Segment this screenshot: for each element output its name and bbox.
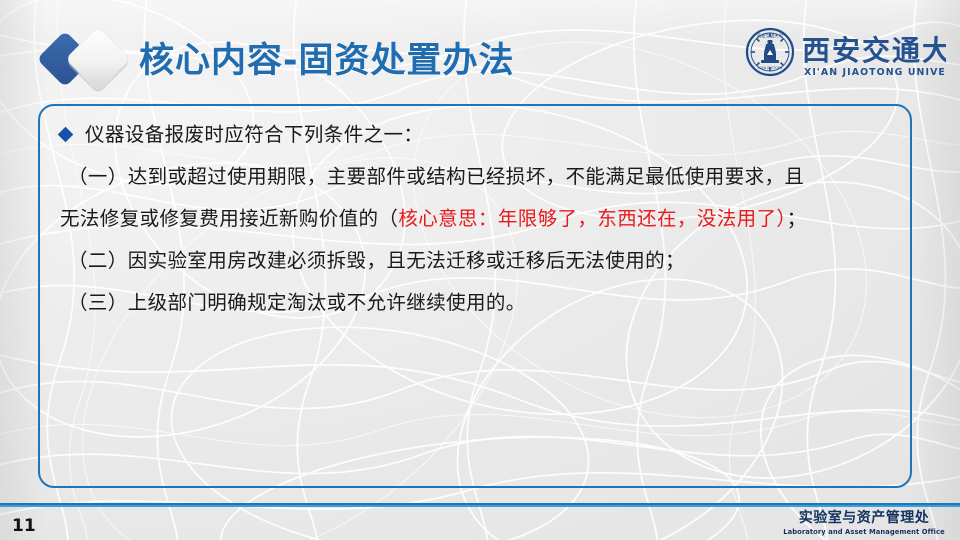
content-highlight-note: 核心意思：年限够了，东西还在，没法用了 [398,207,776,230]
content-line-item2: （二）因实验室用房改建必须拆毁，且无法迁移或迁移后无法使用的； [60,240,900,282]
content-highlight-close-paren: ） [776,207,786,230]
xjtu-university-logo: 西安交通大学 XI'AN JIAOTONG 西安交通大学 XI'AN JIAOT… [740,24,946,88]
footer-divider [0,503,960,507]
department-name-en: Laboratory and Asset Management Office [780,527,949,537]
page-number: 11 [12,516,36,536]
svg-text:西安交通大学: 西安交通大学 [802,34,946,67]
content-line-item1b: 无法修复或修复费用接近新购价值的（核心意思：年限够了，东西还在，没法用了）； [60,198,900,240]
content-line-item3-text: （三）上级部门明确规定淘汰或不允许继续使用的。 [68,291,526,314]
svg-text:XI'AN JIAOTONG: XI'AN JIAOTONG [758,66,783,70]
page-title: 核心内容-固资处置办法 [139,32,515,83]
diamond-bullet-icon [58,127,74,143]
dual-diamond-logo-icon [38,26,134,92]
xjtu-wordmark: 西安交通大学 XI'AN JIAOTONG UNIVERSITY [802,34,946,78]
content-line-item1b-text-post: ； [787,207,807,230]
xjtu-emblem-icon: 西安交通大学 XI'AN JIAOTONG [747,29,793,75]
content-text-block: 仪器设备报废时应符合下列条件之一： （一）达到或超过使用期限，主要部件或结构已经… [60,114,900,324]
content-line-item1b-text-pre: 无法修复或修复费用接近新购价值的（ [60,207,398,230]
presentation-slide: 核心内容-固资处置办法 西安交通大学 XI'AN JI [0,0,960,540]
content-line-item1a-text: （一）达到或超过使用期限，主要部件或结构已经损坏，不能满足最低使用要求，且 [68,165,804,188]
content-line-item2-text: （二）因实验室用房改建必须拆毁，且无法迁移或迁移后无法使用的； [68,249,685,272]
svg-text:西安交通大学: 西安交通大学 [757,33,783,40]
content-line-intro-text: 仪器设备报废时应符合下列条件之一： [85,123,423,146]
department-footer: 实验室与资产管理处 Laboratory and Asset Managemen… [776,510,952,537]
content-line-intro: 仪器设备报废时应符合下列条件之一： [60,114,900,156]
svg-text:XI'AN JIAOTONG UNIVERSITY: XI'AN JIAOTONG UNIVERSITY [804,67,946,78]
content-line-item1a: （一）达到或超过使用期限，主要部件或结构已经损坏，不能满足最低使用要求，且 [60,156,900,198]
department-name-cn: 实验室与资产管理处 [776,510,952,526]
content-line-item3: （三）上级部门明确规定淘汰或不允许继续使用的。 [60,282,900,324]
